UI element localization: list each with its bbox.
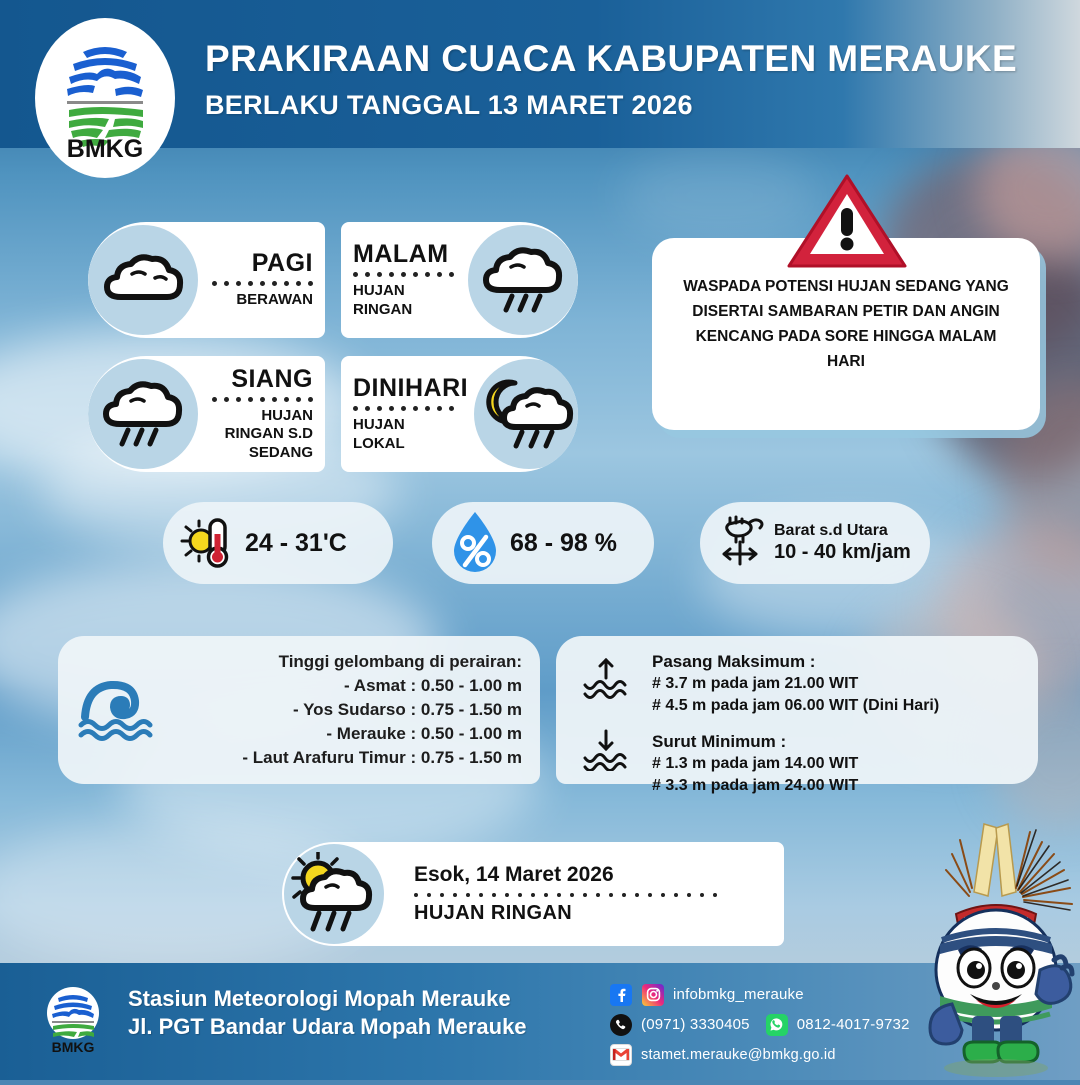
wave-item: - Laut Arafuru Timur : 0.75 - 1.50 m xyxy=(178,746,522,770)
weathervane-icon xyxy=(716,512,766,575)
tomorrow-condition: HUJAN RINGAN xyxy=(414,902,717,925)
forecast-condition: HUJAN RINGAN xyxy=(353,282,412,319)
bmkg-logo-icon: BMKG xyxy=(53,38,157,158)
forecast-period: SIANG xyxy=(231,366,313,392)
phone-number: (0971) 3330405 xyxy=(641,1016,750,1033)
wave-heading: Tinggi gelombang di perairan: xyxy=(178,650,522,674)
cloud-rain-icon xyxy=(468,225,578,335)
warning-text: WASPADA POTENSI HUJAN SEDANG YANG DISERT… xyxy=(676,274,1016,374)
email-icon[interactable] xyxy=(610,1044,632,1066)
wind-values: Barat s.d Utara 10 - 40 km/jam xyxy=(774,522,911,564)
temperature-pill: 24 - 31'C xyxy=(163,502,393,584)
contact-email-row[interactable]: stamet.merauke@bmkg.go.id xyxy=(610,1041,910,1068)
forecast-period: DINIHARI xyxy=(353,375,468,401)
station-address: Stasiun Meteorologi Mopah Merauke Jl. PG… xyxy=(128,985,527,1040)
bmkg-logo-small-text: BMKG xyxy=(52,1039,95,1053)
dotted-divider xyxy=(414,893,717,897)
contact-phone-row[interactable]: (0971) 3330405 0812-4017-9732 xyxy=(610,1011,910,1038)
cloud-rain-icon xyxy=(88,359,198,469)
bmkg-logo-text: BMKG xyxy=(67,135,143,158)
tide-down-icon xyxy=(582,729,652,776)
forecast-period: MALAM xyxy=(353,241,449,267)
station-name: Stasiun Meteorologi Mopah Merauke xyxy=(128,985,527,1013)
forecast-text: SIANG HUJAN RINGAN S.D SEDANG xyxy=(198,366,325,462)
forecast-cards: PAGI BERAWAN MALAM HUJAN RINGAN xyxy=(88,222,598,480)
tide-low-heading: Surut Minimum : xyxy=(652,730,1038,753)
forecast-card-pagi[interactable]: PAGI BERAWAN xyxy=(88,222,325,338)
forecast-text: MALAM HUJAN RINGAN xyxy=(341,241,468,319)
cloud-icon xyxy=(88,225,198,335)
wind-speed: 10 - 40 km/jam xyxy=(774,541,911,565)
moon-cloud-rain-icon xyxy=(474,359,578,469)
dotted-divider xyxy=(353,272,454,278)
whatsapp-icon[interactable] xyxy=(766,1014,788,1036)
wave-height-panel: Tinggi gelombang di perairan: - Asmat : … xyxy=(58,636,540,784)
spacer xyxy=(652,716,1038,730)
tide-icons xyxy=(556,650,652,784)
tomorrow-text: Esok, 14 Maret 2026 HUJAN RINGAN xyxy=(414,863,717,925)
contact-social-row[interactable]: infobmkg_merauke xyxy=(610,981,910,1008)
ocean-wave-icon xyxy=(58,675,178,745)
bmkg-mascot-papua xyxy=(912,818,1080,1085)
dotted-divider xyxy=(212,397,313,403)
tide-up-icon xyxy=(582,658,652,705)
instagram-icon[interactable] xyxy=(642,984,664,1006)
humidity-value: 68 - 98 % xyxy=(510,529,617,558)
header-titles: PRAKIRAAN CUACA KABUPATEN MERAUKE BERLAK… xyxy=(205,38,1017,121)
forecast-condition: BERAWAN xyxy=(236,291,313,309)
dotted-divider xyxy=(212,281,313,287)
contact-list: infobmkg_merauke (0971) 3330405 0812-401… xyxy=(610,981,910,1071)
forecast-period: PAGI xyxy=(252,250,313,276)
bmkg-logo-small: BMKG xyxy=(44,985,102,1058)
temperature-value: 24 - 31'C xyxy=(245,529,347,558)
tomorrow-forecast-card[interactable]: Esok, 14 Maret 2026 HUJAN RINGAN xyxy=(282,842,784,946)
wind-direction: Barat s.d Utara xyxy=(774,522,911,541)
sun-thermometer-icon xyxy=(177,512,235,575)
wave-item: - Yos Sudarso : 0.75 - 1.50 m xyxy=(178,698,522,722)
station-street: Jl. PGT Bandar Udara Mopah Merauke xyxy=(128,1013,527,1041)
page-title: PRAKIRAAN CUACA KABUPATEN MERAUKE xyxy=(205,38,1017,80)
tide-low-row: # 3.3 m pada jam 24.00 WIT xyxy=(652,775,1038,796)
tide-text-block: Pasang Maksimum : # 3.7 m pada jam 21.00… xyxy=(652,650,1038,784)
wave-item: - Merauke : 0.50 - 1.00 m xyxy=(178,722,522,746)
tide-high-heading: Pasang Maksimum : xyxy=(652,650,1038,673)
tide-high-row: # 3.7 m pada jam 21.00 WIT xyxy=(652,673,1038,694)
water-drop-percent-icon xyxy=(450,509,500,578)
tide-panel: Pasang Maksimum : # 3.7 m pada jam 21.00… xyxy=(556,636,1038,784)
phone-icon[interactable] xyxy=(610,1014,632,1036)
humidity-pill: 68 - 98 % xyxy=(432,502,654,584)
warning-triangle-icon xyxy=(785,172,909,275)
tide-high-row: # 4.5 m pada jam 06.00 WIT (Dini Hari) xyxy=(652,695,1038,716)
wind-pill: Barat s.d Utara 10 - 40 km/jam xyxy=(700,502,930,584)
forecast-card-siang[interactable]: SIANG HUJAN RINGAN S.D SEDANG xyxy=(88,356,325,472)
dotted-divider xyxy=(353,406,454,412)
instagram-handle: infobmkg_merauke xyxy=(673,986,804,1003)
forecast-text: PAGI BERAWAN xyxy=(198,250,325,310)
facebook-icon[interactable] xyxy=(610,984,632,1006)
email-address: stamet.merauke@bmkg.go.id xyxy=(641,1047,836,1063)
tomorrow-date: Esok, 14 Maret 2026 xyxy=(414,863,717,887)
whatsapp-number: 0812-4017-9732 xyxy=(797,1016,910,1033)
bmkg-logo: BMKG xyxy=(35,18,175,178)
sun-cloud-rain-icon xyxy=(284,844,384,944)
forecast-card-malam[interactable]: MALAM HUJAN RINGAN xyxy=(341,222,578,338)
tide-low-row: # 1.3 m pada jam 14.00 WIT xyxy=(652,753,1038,774)
forecast-card-dinihari[interactable]: DINIHARI HUJAN LOKAL xyxy=(341,356,578,472)
forecast-condition: HUJAN RINGAN S.D SEDANG xyxy=(225,407,313,462)
wave-text-block: Tinggi gelombang di perairan: - Asmat : … xyxy=(178,650,540,771)
forecast-text: DINIHARI HUJAN LOKAL xyxy=(341,375,474,453)
page-subtitle: BERLAKU TANGGAL 13 MARET 2026 xyxy=(205,90,1017,121)
forecast-condition: HUJAN LOKAL xyxy=(353,416,405,453)
wave-item: - Asmat : 0.50 - 1.00 m xyxy=(178,674,522,698)
